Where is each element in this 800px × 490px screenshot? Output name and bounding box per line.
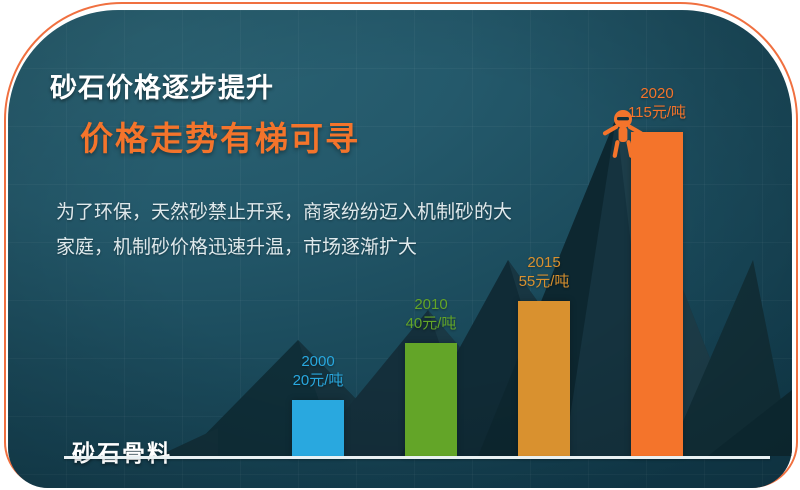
bar-2010[interactable] [405,343,457,456]
bar-label-2015: 2015 55元/吨 [484,253,604,291]
poster-card: 砂石价格逐步提升 价格走势有梯可寻 为了环保，天然砂禁止开采，商家纷纷迈入机制砂… [8,10,792,488]
bar-price-2010: 40元/吨 [371,314,491,333]
bar-2020[interactable] [631,132,683,456]
bar-label-2010: 2010 40元/吨 [371,295,491,333]
bar-chart: 2000 20元/吨 2010 40元/吨 2015 55元/吨 2020 11… [8,10,792,488]
bar-price-2000: 20元/吨 [258,371,378,390]
bar-label-2000: 2000 20元/吨 [258,352,378,390]
bar-year-2000: 2000 [258,352,378,371]
bar-2000[interactable] [292,400,344,456]
bar-year-2010: 2010 [371,295,491,314]
bar-year-2020: 2020 [597,84,717,103]
bar-2015[interactable] [518,301,570,456]
infographic-poster: 砂石价格逐步提升 价格走势有梯可寻 为了环保，天然砂禁止开采，商家纷纷迈入机制砂… [0,0,800,490]
person-celebrating-icon [600,108,646,160]
bar-price-2015: 55元/吨 [484,272,604,291]
chart-baseline [64,456,770,459]
bar-year-2015: 2015 [484,253,604,272]
